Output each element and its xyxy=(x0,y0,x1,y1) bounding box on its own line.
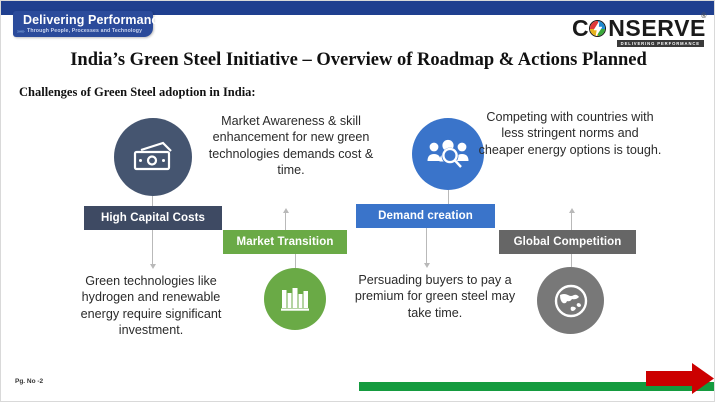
books-icon xyxy=(280,284,310,314)
page-subtitle: Challenges of Green Steel adoption in In… xyxy=(19,85,256,100)
icon-circle-global-competition xyxy=(537,267,604,334)
label-market-transition[interactable]: Market Transition xyxy=(223,230,347,254)
conserve-logo: CNSERVE ® DELIVERING PERFORMANCE xyxy=(566,15,706,47)
page-title: India’s Green Steel Initiative – Overvie… xyxy=(1,50,715,71)
logo-globe-o-icon xyxy=(589,20,608,39)
arrow-down-col3-icon xyxy=(424,263,430,268)
label-high-capital-costs[interactable]: High Capital Costs xyxy=(84,206,222,230)
page-number: Pg. No -2 xyxy=(15,378,43,385)
registered-mark-icon: ® xyxy=(701,13,707,20)
delivering-performance-badge: Delivering Performance »»» Through Peopl… xyxy=(13,11,153,37)
description-demand-creation: Persuading buyers to pay a premium for g… xyxy=(347,272,523,321)
arrow-down-col1-icon xyxy=(150,264,156,269)
lightning-bolt-icon xyxy=(594,22,602,36)
connector-line-col2-lower xyxy=(295,254,296,268)
arrow-up-col2-icon xyxy=(283,208,289,213)
connector-line-col2-upper xyxy=(285,213,286,230)
arrow-up-col4-icon xyxy=(569,208,575,213)
money-icon xyxy=(131,140,175,174)
slide-canvas: Delivering Performance »»» Through Peopl… xyxy=(0,0,715,402)
description-high-capital-costs: Green technologies like hydrogen and ren… xyxy=(63,273,239,339)
badge-dots-icon: »»» xyxy=(17,29,24,35)
connector-line-col3-lower xyxy=(426,228,427,263)
logo-letters-rest: NSERVE xyxy=(608,15,706,41)
label-global-competition[interactable]: Global Competition xyxy=(499,230,636,254)
icon-circle-demand-creation xyxy=(412,118,484,190)
label-demand-creation[interactable]: Demand creation xyxy=(356,204,495,228)
connector-line-col3 xyxy=(448,190,449,204)
connector-line-col4-upper xyxy=(571,213,572,230)
badge-title: Delivering Performance xyxy=(23,13,166,27)
red-arrow-icon xyxy=(646,363,714,394)
connector-line-col4-lower xyxy=(571,254,572,267)
description-global-competition: Competing with countries with less strin… xyxy=(477,109,663,158)
globe-icon xyxy=(553,283,589,319)
logo-letter-c: C xyxy=(572,15,589,42)
logo-wordmark: CNSERVE ® xyxy=(572,15,706,42)
badge-subtitle: Through People, Processes and Technology xyxy=(27,28,142,34)
audience-search-icon xyxy=(427,137,469,171)
icon-circle-market-transition xyxy=(264,268,326,330)
description-market-transition: Market Awareness & skill enhancement for… xyxy=(203,113,379,179)
icon-circle-high-capital-costs xyxy=(114,118,192,196)
connector-line-col1-lower xyxy=(152,230,153,264)
logo-tagline: DELIVERING PERFORMANCE xyxy=(617,40,704,47)
connector-line-col1 xyxy=(152,196,153,206)
